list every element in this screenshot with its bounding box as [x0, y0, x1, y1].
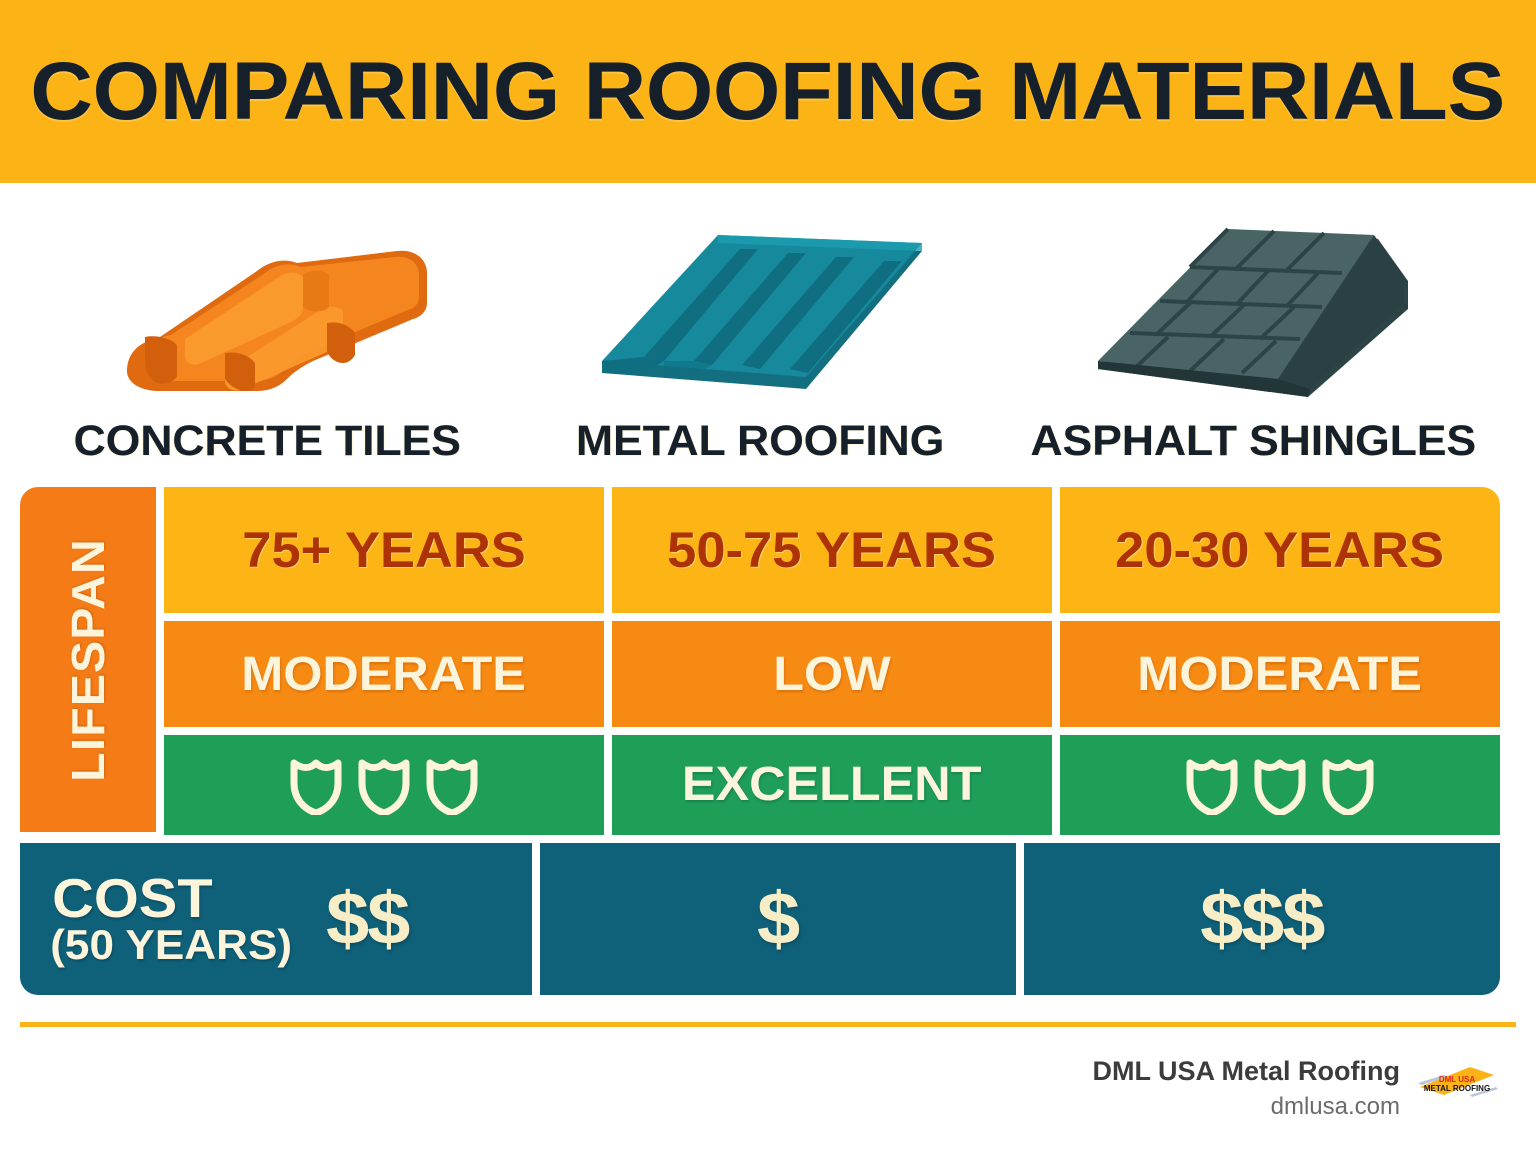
footer-url[interactable]: dmlusa.com — [1093, 1089, 1400, 1125]
cell-value: 50-75 YEARS — [668, 521, 997, 579]
table-row-durability: EXCELLENT — [20, 735, 1500, 834]
shield-icon — [426, 755, 478, 815]
shield-icon — [1322, 755, 1374, 815]
cell-lifespan-concrete-tiles: 75+ YEARS — [164, 487, 604, 613]
material-column-metal-roofing: METAL ROOFING — [513, 196, 1006, 466]
cost-row-label: COST (50 YEARS) — [56, 873, 286, 964]
footer-text: DML USA Metal Roofing dmlusa.com — [1093, 1055, 1400, 1125]
footer-brand-name: DML USA Metal Roofing — [1093, 1055, 1400, 1089]
cost-label-main: COST — [52, 873, 212, 925]
cell-value: EXCELLENT — [682, 757, 982, 812]
dml-usa-logo: DML USA METAL ROOFING — [1414, 1061, 1500, 1111]
shield-icon — [1254, 755, 1306, 815]
cell-lifespan-asphalt-shingles: 20-30 YEARS — [1060, 487, 1500, 613]
cost-value: $ — [757, 876, 798, 961]
comparison-table: LIFESPAN 75+ YEARS 50-75 YEARS 20-30 YEA… — [20, 487, 1500, 995]
cell-lifespan-metal-roofing: 50-75 YEARS — [612, 487, 1052, 613]
concrete-tile-icon — [20, 211, 513, 411]
footer-divider — [20, 1022, 1516, 1027]
svg-text:DML USA: DML USA — [1439, 1075, 1476, 1084]
metal-panel-icon — [513, 211, 1006, 411]
cell-cost-concrete-tiles: COST (50 YEARS) $$ — [20, 843, 532, 995]
shield-rating-group — [290, 755, 478, 815]
header-banner: COMPARING ROOFING MATERIALS — [0, 0, 1536, 183]
asphalt-shingle-icon — [1007, 211, 1500, 411]
cost-value: $$ — [326, 876, 408, 961]
material-label: ASPHALT SHINGLES — [1031, 417, 1477, 466]
cell-cost-metal-roofing: $ — [540, 843, 1016, 995]
cell-durability-metal-roofing: EXCELLENT — [612, 735, 1052, 834]
cost-label-sub: (50 YEARS) — [50, 925, 292, 964]
footer: DML USA Metal Roofing dmlusa.com DML USA… — [1093, 1055, 1500, 1125]
shield-icon — [1186, 755, 1238, 815]
shield-icon — [290, 755, 342, 815]
svg-text:METAL ROOFING: METAL ROOFING — [1424, 1084, 1490, 1093]
page-title: COMPARING ROOFING MATERIALS — [31, 45, 1506, 139]
cell-maintenance-metal-roofing: LOW — [612, 621, 1052, 727]
cell-value: 20-30 YEARS — [1116, 521, 1445, 579]
material-label: CONCRETE TILES — [73, 417, 460, 466]
table-row-cost: COST (50 YEARS) $$ $ $$$ — [20, 843, 1500, 995]
table-row-maintenance: MODERATE LOW MODERATE — [20, 621, 1500, 727]
cell-maintenance-asphalt-shingles: MODERATE — [1060, 621, 1500, 727]
cell-durability-asphalt-shingles — [1060, 735, 1500, 834]
cell-value: 75+ YEARS — [242, 521, 526, 579]
table-row-lifespan: 75+ YEARS 50-75 YEARS 20-30 YEARS — [20, 487, 1500, 613]
cell-maintenance-concrete-tiles: MODERATE — [164, 621, 604, 727]
material-label: METAL ROOFING — [576, 417, 944, 466]
cell-durability-concrete-tiles — [164, 735, 604, 834]
material-column-asphalt-shingles: ASPHALT SHINGLES — [1007, 196, 1500, 466]
material-column-concrete-tiles: CONCRETE TILES — [20, 196, 513, 466]
cost-value: $$$ — [1200, 876, 1323, 961]
cell-cost-asphalt-shingles: $$$ — [1024, 843, 1500, 995]
cell-value: MODERATE — [1138, 647, 1423, 702]
shield-icon — [358, 755, 410, 815]
cell-value: MODERATE — [242, 647, 527, 702]
cell-value: LOW — [773, 647, 891, 702]
shield-rating-group — [1186, 755, 1374, 815]
materials-row: CONCRETE TILES METAL ROOFING — [20, 196, 1500, 466]
